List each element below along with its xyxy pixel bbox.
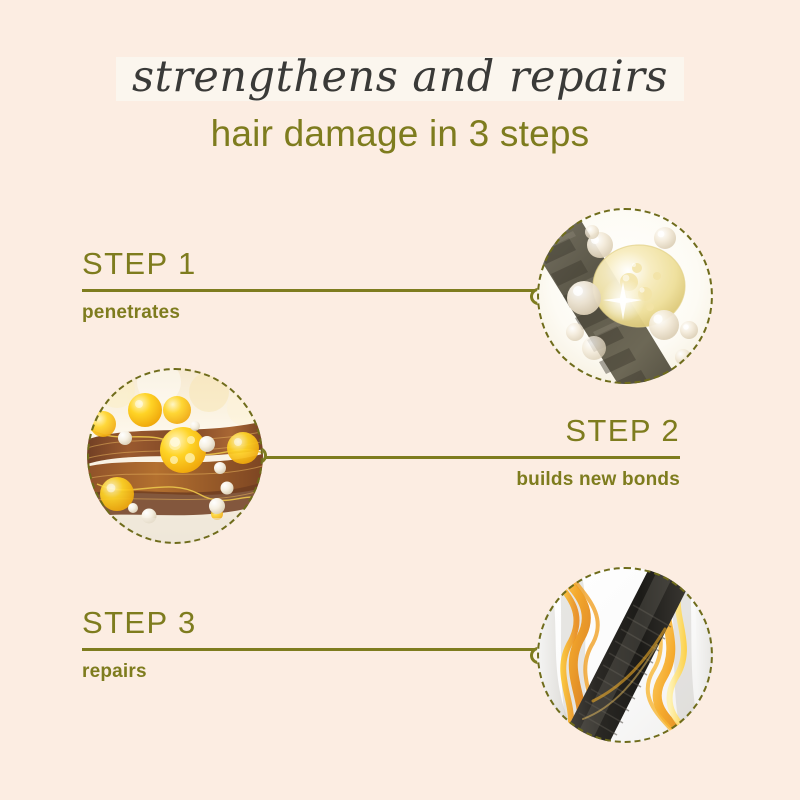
step-3-title: STEP 3 xyxy=(82,607,538,638)
headline-highlight-box: strengthens and repairs xyxy=(116,57,684,101)
headline-sub-line: hair damage in 3 steps xyxy=(0,113,800,155)
step-2-title: STEP 2 xyxy=(258,415,680,446)
step-1-rule xyxy=(82,289,538,292)
headline-script-line: strengthens and repairs xyxy=(132,56,668,99)
step-3-image-repairs xyxy=(537,567,713,743)
infographic-canvas: strengthens and repairs hair damage in 3… xyxy=(0,0,800,800)
step-2-rule xyxy=(258,456,680,459)
step-3-caption: repairs xyxy=(82,662,538,681)
step-2-caption: builds new bonds xyxy=(258,470,680,489)
step-block-3: STEP 3 repairs xyxy=(82,607,538,681)
step-1-title: STEP 1 xyxy=(82,248,538,279)
step-1-image-penetrates xyxy=(537,208,713,384)
step-2-image-builds-new-bonds xyxy=(87,368,263,544)
step-block-2: STEP 2 builds new bonds xyxy=(258,415,680,489)
step-1-caption: penetrates xyxy=(82,303,538,322)
step-block-1: STEP 1 penetrates xyxy=(82,248,538,322)
step-3-rule xyxy=(82,648,538,651)
